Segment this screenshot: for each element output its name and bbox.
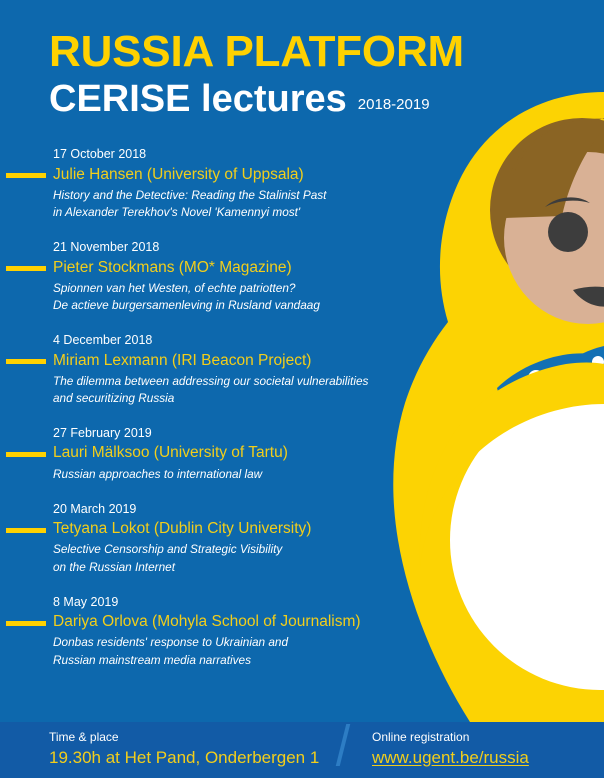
- doll-petal-dot: [592, 356, 604, 368]
- doll-body-scarf: [393, 92, 604, 722]
- doll-group: [393, 92, 604, 722]
- academic-year-label: 2018-2019: [358, 96, 430, 113]
- doll-face: [504, 152, 604, 324]
- lecture-speaker: Dariya Orlova (Mohyla School of Journali…: [53, 612, 420, 632]
- list-item: 27 February 2019 Lauri Mälksoo (Universi…: [0, 426, 420, 483]
- lecture-topic-line: De actieve burgersamenleving in Rusland …: [53, 297, 420, 314]
- bullet-dash-icon: [6, 359, 46, 364]
- list-item: 21 November 2018 Pieter Stockmans (MO* M…: [0, 240, 420, 314]
- lecture-topic-line: The dilemma between addressing our socie…: [53, 373, 420, 390]
- poster-header: RUSSIA PLATFORM CERISE lectures 2018-201…: [49, 30, 469, 118]
- list-item: 8 May 2019 Dariya Orlova (Mohyla School …: [0, 595, 420, 669]
- lecture-topic-line: and securitizing Russia: [53, 390, 420, 407]
- lecture-date: 27 February 2019: [53, 426, 420, 442]
- doll-apron: [450, 390, 604, 690]
- doll-scarf-fold: [420, 363, 604, 567]
- registration-url-link[interactable]: www.ugent.be/russia: [372, 747, 529, 768]
- lecture-speaker: Tetyana Lokot (Dublin City University): [53, 519, 420, 539]
- list-item: 20 March 2019 Tetyana Lokot (Dublin City…: [0, 502, 420, 576]
- doll-petal-left: [497, 353, 604, 410]
- doll-apron-arc: [437, 394, 580, 470]
- lecture-date: 4 December 2018: [53, 333, 420, 349]
- time-place-value: 19.30h at Het Pand, Onderbergen 1: [49, 747, 349, 768]
- lecture-topic-line: Russian approaches to international law: [53, 466, 420, 483]
- lecture-date: 17 October 2018: [53, 147, 420, 163]
- lecture-date: 20 March 2019: [53, 502, 420, 518]
- list-item: 4 December 2018 Miriam Lexmann (IRI Beac…: [0, 333, 420, 407]
- lecture-topic-line: on the Russian Internet: [53, 559, 420, 576]
- doll-petals: [497, 346, 604, 410]
- lecture-speaker: Lauri Mälksoo (University of Tartu): [53, 443, 420, 463]
- doll-decoration-group: [437, 390, 604, 690]
- doll-petal-dot: [513, 386, 523, 396]
- bullet-dash-icon: [6, 452, 46, 457]
- doll-petal-dot: [528, 370, 544, 386]
- doll-eyebrow: [545, 197, 590, 207]
- list-item: 17 October 2018 Julie Hansen (University…: [0, 147, 420, 221]
- lecture-topic-line: Spionnen van het Westen, of echte patrio…: [53, 280, 420, 297]
- registration-label: Online registration: [372, 730, 529, 746]
- lecture-speaker: Julie Hansen (University of Uppsala): [53, 165, 420, 185]
- lecture-speaker: Pieter Stockmans (MO* Magazine): [53, 258, 420, 278]
- lecture-speaker: Miriam Lexmann (IRI Beacon Project): [53, 351, 420, 371]
- time-place-label: Time & place: [49, 730, 349, 746]
- bullet-dash-icon: [6, 173, 46, 178]
- lecture-topic-line: Russian mainstream media narratives: [53, 652, 420, 669]
- lecture-topic-line: Donbas residents' response to Ukrainian …: [53, 634, 420, 651]
- bullet-dash-icon: [6, 528, 46, 533]
- page-subtitle: CERISE lectures: [49, 80, 347, 118]
- bullet-dash-icon: [6, 266, 46, 271]
- doll-hair-sweep: [504, 121, 604, 218]
- lecture-topic-line: in Alexander Terekhov's Novel 'Kamennyi …: [53, 204, 420, 221]
- doll-mouth: [573, 287, 604, 307]
- doll-petal-right: [556, 346, 604, 388]
- subtitle-row: CERISE lectures 2018-2019: [49, 80, 469, 118]
- doll-eye: [548, 212, 588, 252]
- doll-hair-fringe: [504, 118, 604, 216]
- lecture-date: 21 November 2018: [53, 240, 420, 256]
- poster-footer: Time & place 19.30h at Het Pand, Onderbe…: [0, 722, 604, 778]
- page-title: RUSSIA PLATFORM: [49, 30, 469, 74]
- lecture-topic-line: History and the Detective: Reading the S…: [53, 187, 420, 204]
- doll-hair: [490, 118, 604, 302]
- lecture-date: 8 May 2019: [53, 595, 420, 611]
- lecture-topic-line: Selective Censorship and Strategic Visib…: [53, 541, 420, 558]
- time-and-place-block: Time & place 19.30h at Het Pand, Onderbe…: [49, 730, 349, 768]
- lecture-list: 17 October 2018 Julie Hansen (University…: [0, 147, 420, 688]
- bullet-dash-icon: [6, 621, 46, 626]
- poster: RUSSIA PLATFORM CERISE lectures 2018-201…: [0, 0, 604, 778]
- registration-block: Online registration www.ugent.be/russia: [372, 730, 529, 768]
